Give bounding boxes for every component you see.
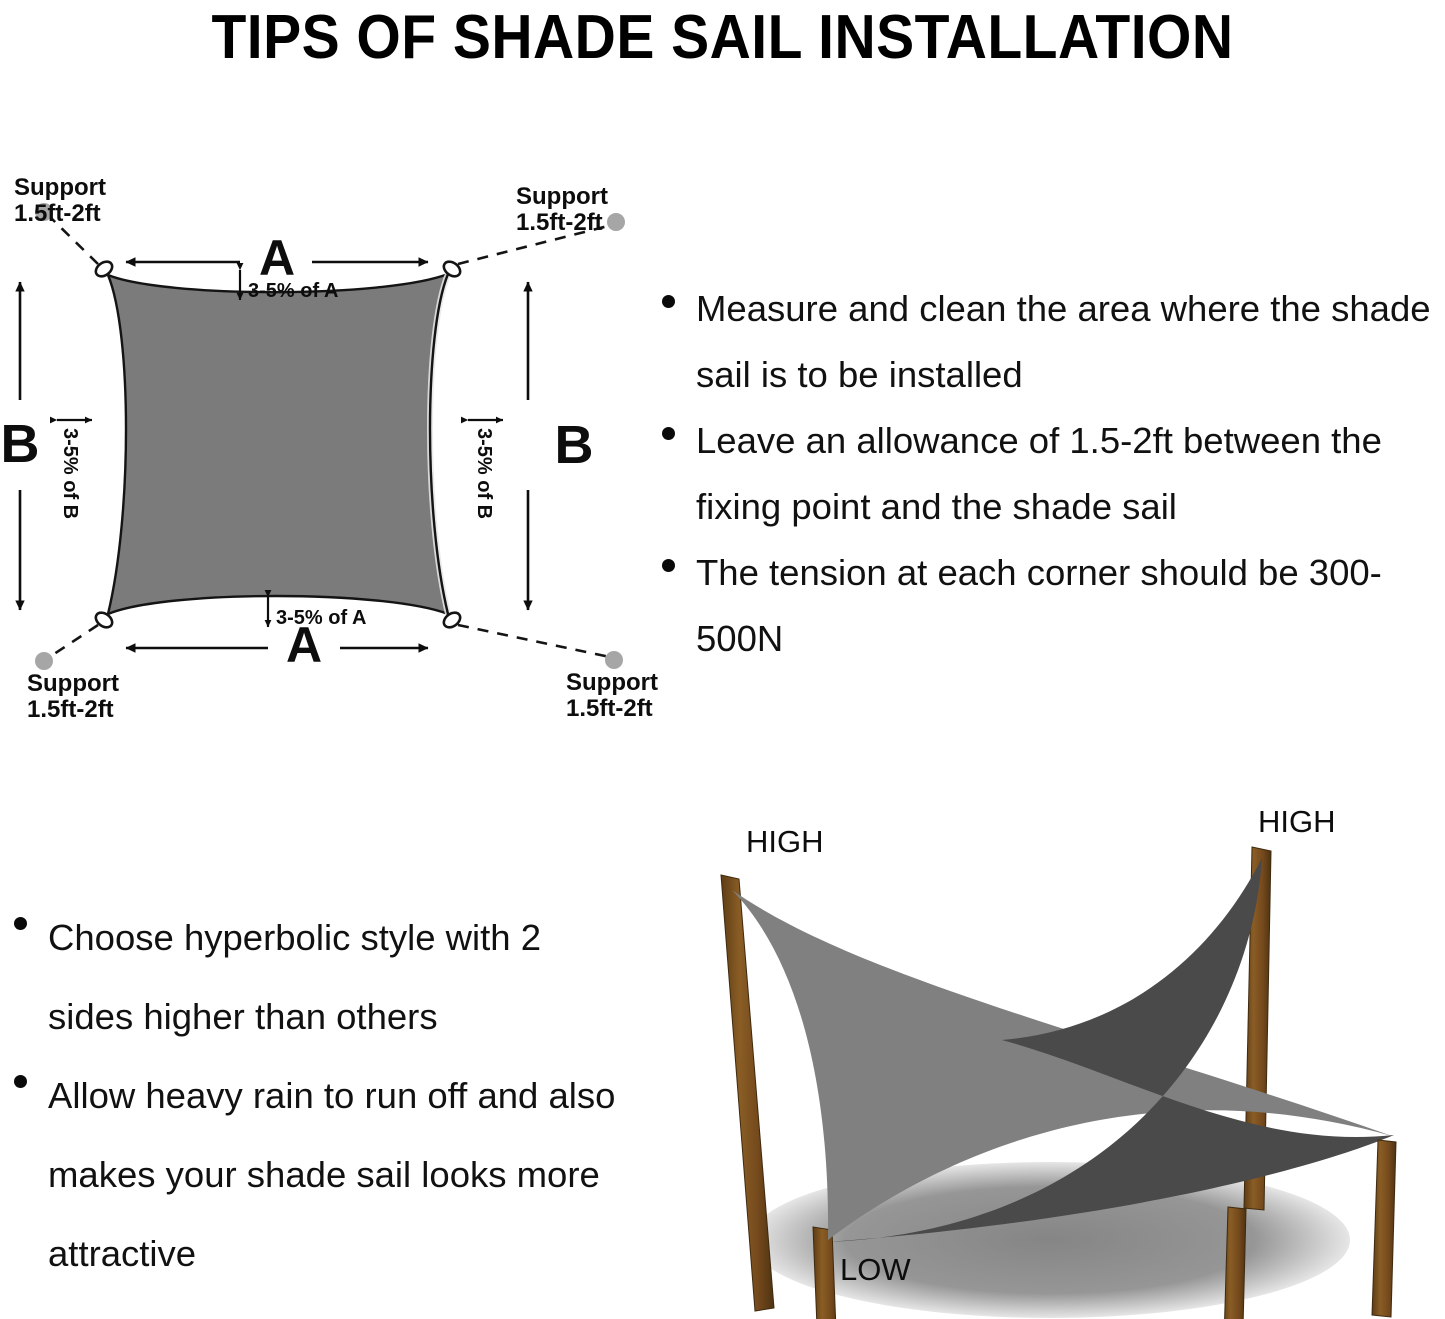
dimension-label-right-b: B — [555, 415, 594, 475]
hyperbolic-shade-sail-illustration: HIGH HIGH LOW LOW — [650, 790, 1445, 1319]
support-label-bottom-right-line1: Support — [566, 669, 658, 696]
list-item: Choose hyperbolic style with 2 sides hig… — [0, 898, 625, 1056]
curvature-note-left-label: 3-5% of B — [59, 428, 81, 519]
support-label-top-left: Support 1.5ft-2ft — [14, 174, 106, 227]
list-item: The tension at each corner should be 300… — [648, 540, 1445, 672]
bullet-dot-icon — [662, 427, 675, 440]
label-high-right: HIGH — [1258, 804, 1336, 839]
sail-panels — [732, 858, 1394, 1242]
support-label-top-right: Support 1.5ft-2ft — [516, 183, 608, 236]
curvature-note-right: 3-5% of B — [468, 420, 503, 519]
dimension-label-left-b: B — [1, 414, 40, 474]
support-dot-bottom-right — [605, 651, 623, 669]
dimension-left-b: B — [1, 282, 40, 610]
hyperbolic-tips-list: Choose hyperbolic style with 2 sides hig… — [0, 898, 625, 1293]
support-label-bottom-left-line1: Support — [27, 670, 119, 697]
list-item-text: The tension at each corner should be 300… — [696, 540, 1445, 672]
list-item-text: Choose hyperbolic style with 2 sides hig… — [48, 898, 625, 1056]
curvature-note-bottom-label: 3-5% of A — [276, 607, 366, 629]
label-high-left: HIGH — [746, 824, 824, 859]
support-label-bottom-right: Support 1.5ft-2ft — [566, 669, 658, 722]
sail-body — [108, 274, 448, 614]
support-label-bottom-left: Support 1.5ft-2ft — [27, 670, 119, 723]
support-label-top-left-line1: Support — [14, 174, 106, 201]
bullet-dot-icon — [14, 917, 27, 930]
list-item-text: Leave an allowance of 1.5-2ft between th… — [696, 408, 1445, 540]
post-high-left — [721, 875, 774, 1311]
support-label-top-left-line2: 1.5ft-2ft — [14, 200, 101, 227]
curvature-note-top-label: 3-5% of A — [248, 280, 338, 302]
list-item: Leave an allowance of 1.5-2ft between th… — [648, 408, 1445, 540]
page-title: TIPS OF SHADE SAIL INSTALLATION — [58, 2, 1387, 73]
curvature-note-left: 3-5% of B — [57, 420, 92, 519]
page-root: TIPS OF SHADE SAIL INSTALLATION — [0, 0, 1445, 1319]
dimension-right-b: B — [528, 282, 594, 610]
bullet-dot-icon — [662, 295, 675, 308]
label-low-left: LOW — [840, 1252, 911, 1287]
installation-tips-list: Measure and clean the area where the sha… — [648, 276, 1445, 672]
bullet-dot-icon — [662, 559, 675, 572]
support-label-top-right-line1: Support — [516, 183, 608, 210]
list-item: Measure and clean the area where the sha… — [648, 276, 1445, 408]
dimension-label-top-a: A — [259, 230, 295, 286]
support-dot-bottom-left — [35, 652, 53, 670]
curvature-note-bottom: 3-5% of A — [268, 597, 366, 629]
curvature-note-right-label: 3-5% of B — [473, 428, 495, 519]
list-item-text: Allow heavy rain to run off and also mak… — [48, 1056, 625, 1293]
support-label-bottom-right-line2: 1.5ft-2ft — [566, 695, 653, 722]
list-item-text: Measure and clean the area where the sha… — [696, 276, 1445, 408]
dimension-top-a: A — [126, 230, 428, 286]
post-low-right-front — [1372, 1140, 1396, 1317]
bullet-dot-icon — [14, 1075, 27, 1088]
support-label-bottom-left-line2: 1.5ft-2ft — [27, 696, 114, 723]
support-label-top-right-line2: 1.5ft-2ft — [516, 209, 603, 236]
list-item: Allow heavy rain to run off and also mak… — [0, 1056, 625, 1293]
rectangular-shade-sail-dimension-diagram: Support 1.5ft-2ft Support 1.5ft-2ft Supp… — [0, 170, 660, 730]
support-dot-top-right — [607, 213, 625, 231]
